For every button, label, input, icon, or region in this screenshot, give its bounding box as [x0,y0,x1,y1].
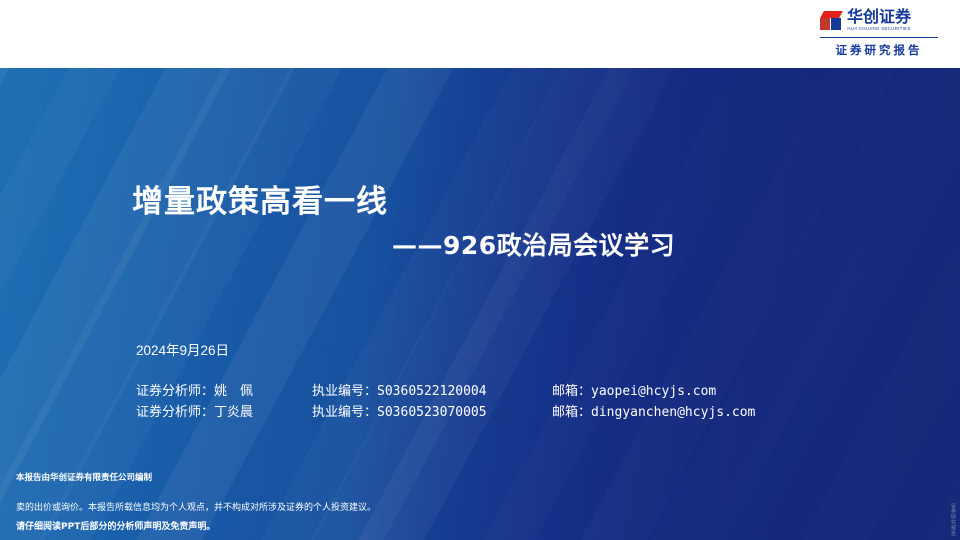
analyst-email-2[interactable]: 邮箱：dingyanchen@hcyjs.com [552,402,755,423]
banner-gradient-overlay [0,68,960,540]
slide-header: 华创证券 HUA CHUANG SECURITIES 证券研究报告 [0,0,960,68]
slide-root: 华创证券 HUA CHUANG SECURITIES 证券研究报告 增量政策高看… [0,0,960,540]
title-banner [0,68,960,540]
license-label-2: 执业编号： [312,405,377,420]
brand-divider [820,37,938,38]
footer-disclaimer: 本报告由华创证券有限责任公司编制 卖的出价或询价。本报告所载信息均为个人观点，并… [16,471,376,532]
license-value-2: S0360523070005 [377,405,487,420]
analyst-name-1: 证券分析师：姚 佩 [136,381,312,402]
email-value-1[interactable]: yaopei@hcyjs.com [591,384,716,399]
analyst-role-label-2: 证券分析师： [136,405,214,420]
brand-name-cn: 华创证券 [847,9,911,25]
analyst-name-2: 证券分析师：丁炎晨 [136,402,312,423]
email-label-2: 邮箱： [552,405,591,420]
analyst-role-label-1: 证券分析师： [136,384,214,399]
analyst-name-value-1: 姚 佩 [214,384,253,399]
page-title: 增量政策高看一线 [132,176,388,221]
email-label-1: 邮箱： [552,384,591,399]
hua-chuang-logo-icon [820,11,842,30]
analyst-name-value-2: 丁炎晨 [214,405,253,420]
disclaimer-line-3: 请仔细阅读PPT后部分的分析师声明及免责声明。 [16,519,376,532]
analyst-row: 证券分析师：姚 佩 执业编号：S0360522120004 邮箱：yaopei@… [136,381,755,402]
meta-block: 2024年9月26日 证券分析师：姚 佩 执业编号：S0360522120004… [136,339,755,423]
license-label-1: 执业编号： [312,384,377,399]
license-value-1: S0360522120004 [377,384,487,399]
report-date: 2024年9月26日 [136,339,755,359]
disclaimer-line-1: 本报告由华创证券有限责任公司编制 [16,471,376,483]
brand-block: 华创证券 HUA CHUANG SECURITIES 证券研究报告 [820,8,938,58]
vertical-watermark: 证券研究报告 [950,503,957,536]
analyst-row: 证券分析师：丁炎晨 执业编号：S0360523070005 邮箱：dingyan… [136,402,755,423]
brand-name-en: HUA CHUANG SECURITIES [847,27,911,31]
brand-wordmark: 华创证券 HUA CHUANG SECURITIES [847,9,911,31]
analyst-license-2: 执业编号：S0360523070005 [312,402,552,423]
email-value-2[interactable]: dingyanchen@hcyjs.com [591,405,755,420]
analyst-email-1[interactable]: 邮箱：yaopei@hcyjs.com [552,381,716,402]
report-type-label: 证券研究报告 [820,42,938,58]
brand-logo: 华创证券 HUA CHUANG SECURITIES [820,8,938,32]
page-subtitle: ——926政治局会议学习 [392,226,675,262]
diagonal-stripe-pattern-secondary [0,68,960,540]
diagonal-stripe-pattern [0,68,960,540]
disclaimer-line-2: 卖的出价或询价。本报告所载信息均为个人观点，并不构成对所涉及证券的个人投资建议。 [16,500,376,513]
analyst-license-1: 执业编号：S0360522120004 [312,381,552,402]
